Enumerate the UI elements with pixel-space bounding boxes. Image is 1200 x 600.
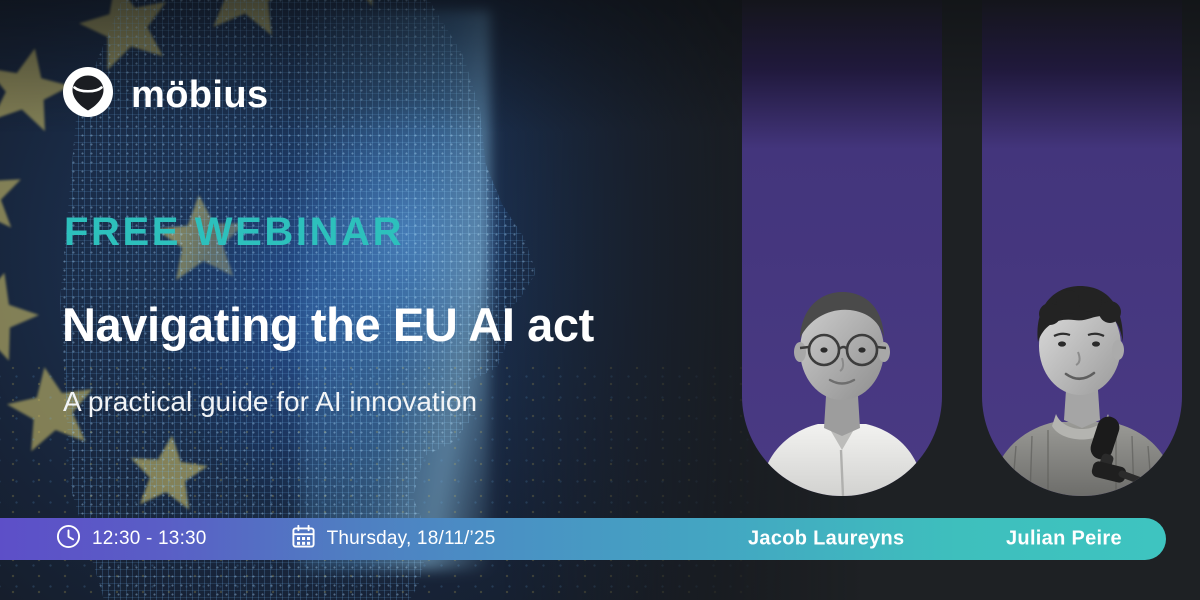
page-subtitle: A practical guide for AI innovation bbox=[63, 385, 477, 419]
avatar-jacob-laureyns bbox=[742, 264, 942, 496]
clock-icon bbox=[56, 524, 81, 554]
calendar-icon bbox=[291, 524, 316, 554]
brand-name: möbius bbox=[131, 76, 269, 114]
eyebrow-label: FREE WEBINAR bbox=[64, 212, 404, 252]
page-title: Navigating the EU AI act bbox=[62, 300, 594, 349]
avatar-julian-peire bbox=[982, 264, 1182, 496]
speaker-name-1: Jacob Laureyns bbox=[748, 528, 905, 551]
event-date-label: Thursday, 18/11/’25 bbox=[327, 528, 496, 550]
event-date: Thursday, 18/11/’25 bbox=[291, 524, 496, 554]
speaker-panel-1 bbox=[742, 0, 942, 496]
event-info-bar: 12:30 - 13:30 Thursday, 18/11/’25 Jacob … bbox=[0, 518, 1166, 560]
brand-logo: möbius bbox=[62, 66, 269, 123]
webinar-promo-graphic: möbius FREE WEBINAR Navigating the EU AI… bbox=[0, 0, 1200, 600]
event-time-label: 12:30 - 13:30 bbox=[92, 528, 207, 550]
event-time: 12:30 - 13:30 bbox=[56, 524, 207, 554]
speaker-panel-2 bbox=[982, 0, 1182, 496]
mobius-shield-icon bbox=[62, 66, 114, 123]
speaker-name-2: Julian Peire bbox=[1006, 528, 1122, 551]
